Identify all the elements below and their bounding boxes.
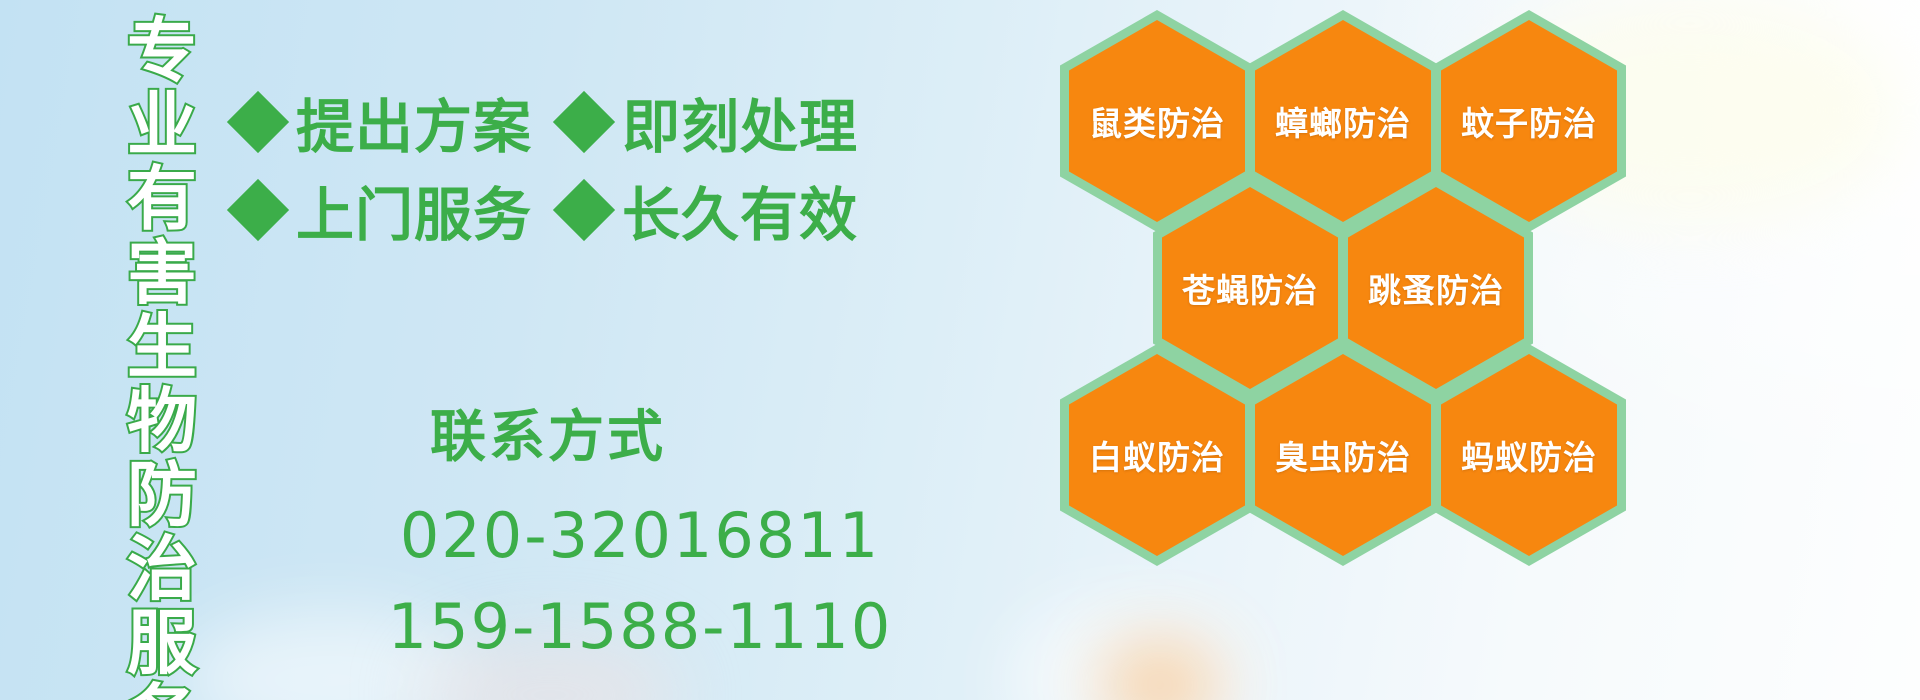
vertical-title-char: 生 — [127, 310, 197, 384]
service-label: 苍蝇防治 — [1182, 264, 1318, 312]
service-label: 跳蚤防治 — [1368, 264, 1504, 312]
feature-label: 即刻处理 — [622, 80, 858, 164]
vertical-title-char: 务 — [127, 680, 197, 700]
phone-mobile[interactable]: 159-1588-1110 — [330, 590, 950, 663]
feature-item-propose-plan: 提出方案 — [236, 80, 532, 164]
diamond-icon — [553, 91, 615, 153]
service-hex-termite[interactable]: 白蚁防治 — [1060, 344, 1254, 566]
service-label: 臭虫防治 — [1275, 431, 1411, 479]
diamond-icon — [227, 179, 289, 241]
service-hex-ant[interactable]: 蚂蚁防治 — [1432, 344, 1626, 566]
service-label: 鼠类防治 — [1089, 97, 1225, 145]
feature-row: 提出方案 即刻处理 — [236, 78, 876, 166]
service-hex-bedbug[interactable]: 臭虫防治 — [1246, 344, 1440, 566]
feature-label: 提出方案 — [296, 80, 532, 164]
diamond-icon — [553, 179, 615, 241]
feature-label: 上门服务 — [296, 168, 532, 252]
service-label: 蚊子防治 — [1461, 97, 1597, 145]
vertical-title-char: 业 — [127, 88, 197, 162]
service-label: 白蚁防治 — [1089, 431, 1225, 479]
service-honeycomb: 鼠类防治 蟑螂防治 蚊子防治 苍蝇防治 跳蚤防治 白蚁防治 — [1060, 2, 1800, 662]
diamond-icon — [227, 91, 289, 153]
vertical-title-char: 害 — [127, 236, 197, 310]
feature-item-onsite-service: 上门服务 — [236, 168, 532, 252]
feature-list: 提出方案 即刻处理 上门服务 长久有效 — [236, 78, 876, 254]
feature-label: 长久有效 — [622, 168, 858, 252]
vertical-title-char: 服 — [127, 606, 197, 680]
feature-item-immediate-handling: 即刻处理 — [562, 80, 858, 164]
feature-item-long-lasting: 长久有效 — [562, 168, 858, 252]
contact-block: 联系方式 020-32016811 159-1588-1110 — [330, 392, 950, 663]
phone-landline[interactable]: 020-32016811 — [330, 499, 950, 572]
vertical-title-char: 物 — [127, 384, 197, 458]
service-label: 蟑螂防治 — [1275, 97, 1411, 145]
feature-row: 上门服务 长久有效 — [236, 166, 876, 254]
vertical-title-char: 有 — [127, 162, 197, 236]
service-label: 蚂蚁防治 — [1461, 431, 1597, 479]
contact-heading: 联系方式 — [330, 392, 950, 473]
vertical-title-char: 专 — [127, 14, 197, 88]
vertical-title-char: 防 — [127, 458, 197, 532]
vertical-title: 专 业 有 害 生 物 防 治 服 务 — [108, 14, 216, 686]
pest-control-banner: 专 业 有 害 生 物 防 治 服 务 提出方案 即刻处理 上门服务 — [0, 0, 1920, 700]
vertical-title-char: 治 — [127, 532, 197, 606]
